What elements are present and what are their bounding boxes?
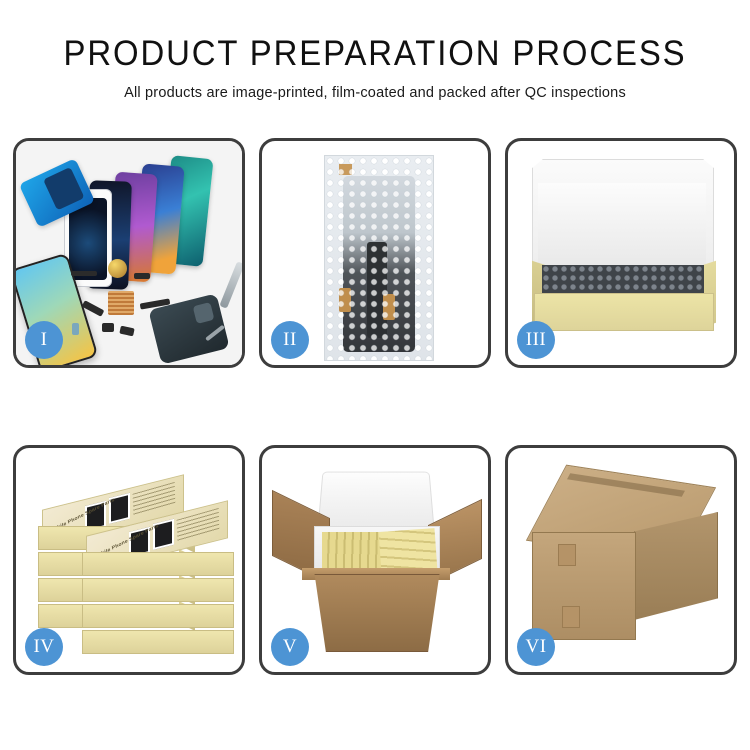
- bubble-texture-overlay: [325, 156, 433, 360]
- stacked-box: [82, 552, 234, 576]
- small-part-icon: [102, 323, 114, 332]
- flex-cable-icon: [134, 273, 150, 279]
- step-badge-1: I: [25, 321, 63, 359]
- process-step-2[interactable]: II: [259, 138, 491, 368]
- process-step-6[interactable]: VI: [505, 445, 737, 675]
- carton-front-icon: [532, 532, 636, 640]
- process-step-4[interactable]: Mobile Phone Spare Parts Mobile Phone Sp…: [13, 445, 245, 675]
- stacked-box: [82, 578, 234, 602]
- step-badge-5: V: [271, 628, 309, 666]
- process-step-5[interactable]: V: [259, 445, 491, 675]
- step-badge-6: VI: [517, 628, 555, 666]
- bubble-wrap-bag-icon: [324, 155, 434, 361]
- box-text-lines: [177, 508, 220, 542]
- process-step-1[interactable]: I: [13, 138, 245, 368]
- step-badge-3: III: [517, 321, 555, 359]
- speaker-part-icon: [108, 259, 127, 278]
- box-front-icon: [534, 293, 714, 331]
- chip-part-icon: [108, 291, 134, 315]
- earpiece-part-icon: [71, 271, 97, 276]
- page-title: PRODUCT PREPARATION PROCESS: [23, 36, 728, 73]
- step-badge-2: II: [271, 321, 309, 359]
- box-text-lines: [133, 482, 176, 516]
- process-step-grid: I II III: [13, 138, 737, 675]
- page-subtitle: All products are image-printed, film-coa…: [0, 85, 750, 101]
- stacked-box: [82, 630, 234, 654]
- stacked-box: [82, 604, 234, 628]
- carton-tape-icon: [562, 606, 580, 628]
- page-header: PRODUCT PREPARATION PROCESS All products…: [0, 0, 750, 101]
- battery-part-icon: [72, 323, 79, 335]
- foam-sheet-icon: [538, 183, 706, 265]
- carton-front-icon: [306, 574, 448, 652]
- foam-lid-icon: [317, 472, 434, 531]
- carton-tape-icon: [558, 544, 576, 566]
- step-badge-4: IV: [25, 628, 63, 666]
- process-step-3[interactable]: III: [505, 138, 737, 368]
